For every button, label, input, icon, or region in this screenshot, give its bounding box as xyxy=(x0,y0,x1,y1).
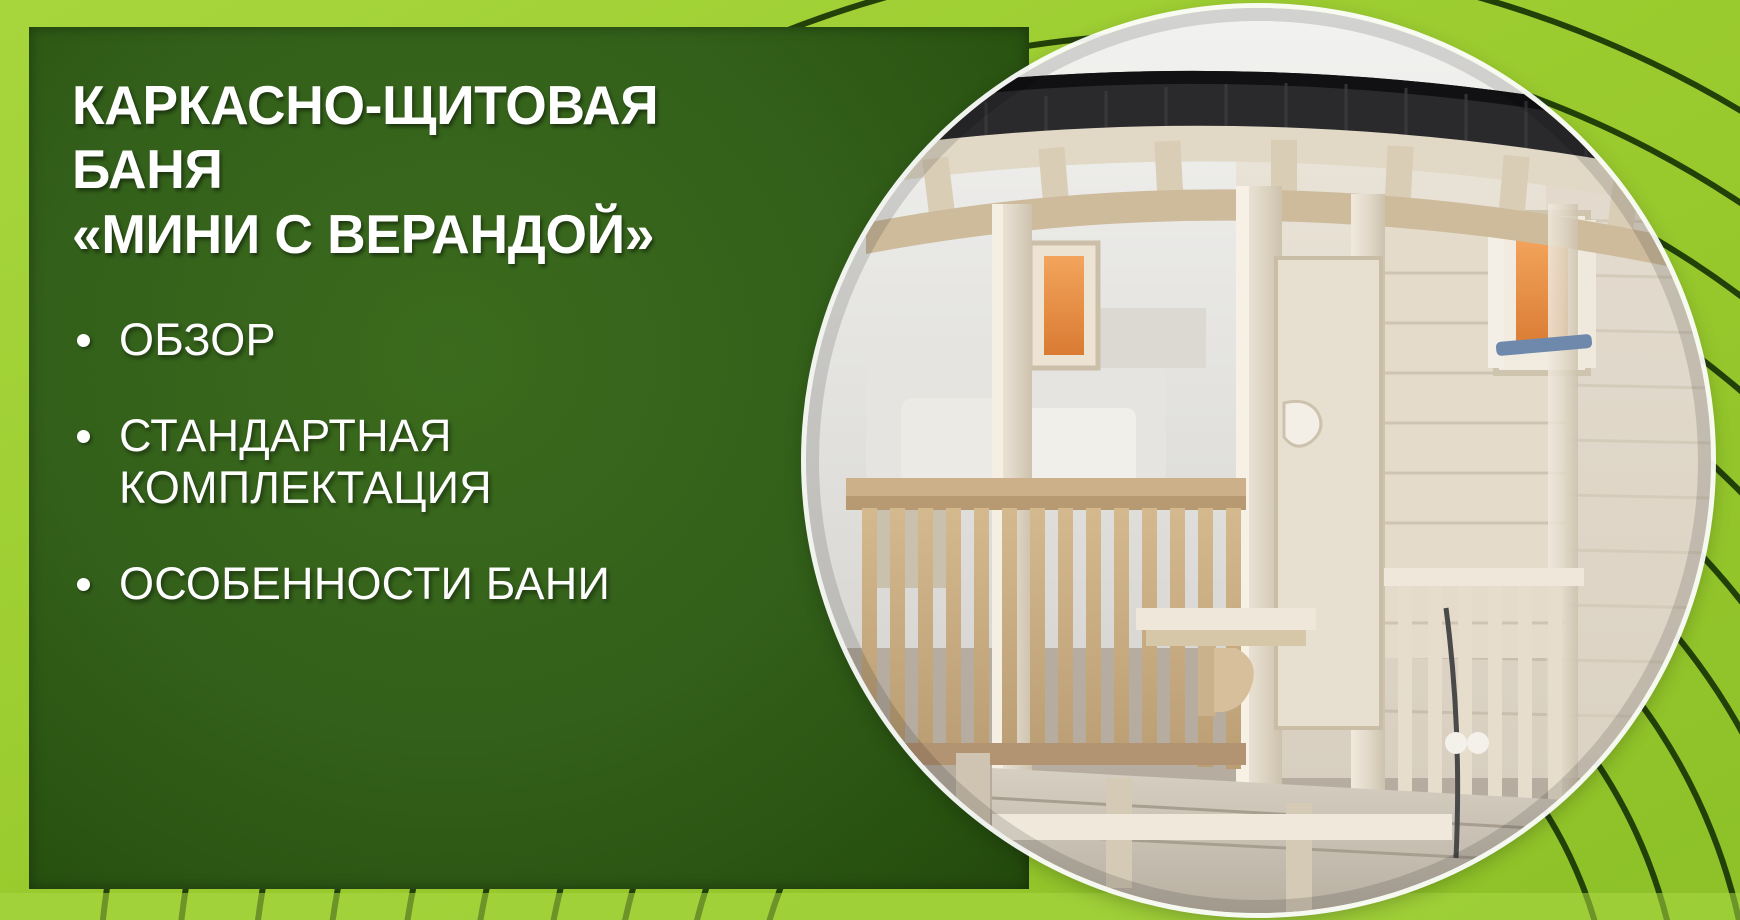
list-item-label: СТАНДАРТНАЯ КОМПЛЕКТАЦИЯ xyxy=(119,410,792,515)
list-item: СТАНДАРТНАЯ КОМПЛЕКТАЦИЯ xyxy=(72,410,792,515)
list-item: ОБЗОР xyxy=(72,314,792,367)
topic-list: ОБЗОР СТАНДАРТНАЯ КОМПЛЕКТАЦИЯ ОСОБЕННОС… xyxy=(72,314,792,611)
page-title-line-2: БАНЯ xyxy=(72,137,790,201)
bathhouse-photo-image xyxy=(806,8,1711,913)
page-title: КАРКАСНО-ЩИТОВАЯ БАНЯ «МИНИ С ВЕРАНДОЙ» xyxy=(72,73,790,266)
page-title-line-3: «МИНИ С ВЕРАНДОЙ» xyxy=(72,202,790,266)
bathhouse-photo xyxy=(806,8,1711,913)
list-item-label: ОБЗОР xyxy=(119,314,792,367)
page-title-line-1: КАРКАСНО-ЩИТОВАЯ xyxy=(72,73,790,137)
bullet-dot-icon xyxy=(77,430,90,443)
list-item: ОСОБЕННОСТИ БАНИ xyxy=(72,558,792,611)
promo-slide: КАРКАСНО-ЩИТОВАЯ БАНЯ «МИНИ С ВЕРАНДОЙ» … xyxy=(0,0,1740,920)
list-item-label: ОСОБЕННОСТИ БАНИ xyxy=(119,558,792,611)
bullet-dot-icon xyxy=(77,578,90,591)
bullet-dot-icon xyxy=(77,334,90,347)
